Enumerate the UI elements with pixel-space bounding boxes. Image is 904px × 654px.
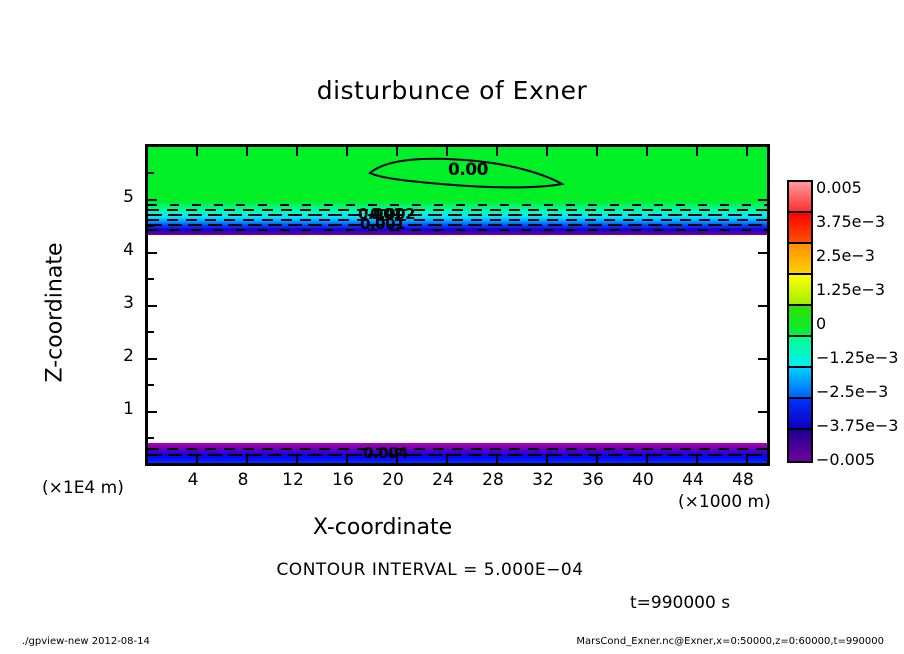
colorbar-label-6: −2.5e−3 [816, 382, 888, 401]
x-tick-label-36: 36 [571, 470, 615, 490]
x-tick-top-32 [546, 147, 548, 156]
colorbar-label-4: 0 [816, 314, 826, 333]
x-tick-label-8: 8 [221, 470, 265, 490]
x-tick-top-8 [246, 147, 248, 156]
y-tick-right-1 [758, 411, 767, 413]
y-tick-left-1 [148, 411, 157, 413]
x-tick-top-16 [346, 147, 348, 156]
x-tick-bottom-28 [496, 454, 498, 463]
colorbar-label-0: 0.005 [816, 178, 862, 197]
x-tick-bottom-48 [746, 454, 748, 463]
contour-dash-row [148, 219, 767, 221]
contour-dash-row [148, 209, 767, 211]
colorbar-label-2: 2.5e−3 [816, 246, 875, 265]
colorbar-label-5: −1.25e−3 [816, 348, 898, 367]
y-tick-right-3 [758, 305, 767, 307]
x-tick-top-40 [646, 147, 648, 156]
x-tick-label-16: 16 [321, 470, 365, 490]
y-tick-label-4: 4 [104, 240, 134, 260]
x-tick-top-4 [196, 147, 198, 156]
footer-source-info: MarsCond_Exner.nc@Exner,x=0:50000,z=0:60… [576, 636, 884, 647]
x-tick-top-48 [746, 147, 748, 156]
y-tick-left-minor [148, 172, 154, 174]
y-tick-left-2 [148, 358, 157, 360]
x-tick-label-12: 12 [271, 470, 315, 490]
y-tick-right-5 [758, 199, 767, 201]
colorbar-band-0 [789, 182, 811, 213]
y-tick-right-4 [758, 252, 767, 254]
region-middle-blank [148, 235, 767, 447]
x-tick-bottom-24 [446, 454, 448, 463]
x-tick-bottom-8 [246, 454, 248, 463]
colorbar-band-3 [789, 275, 811, 306]
x-tick-label-20: 20 [371, 470, 415, 490]
footer-command-info: ./gpview-new 2012-08-14 [22, 636, 150, 647]
y-axis-unit-label: (×1E4 m) [42, 478, 124, 498]
colorbar-band-8 [789, 430, 811, 461]
x-axis-unit-label: (×1000 m) [678, 492, 771, 512]
y-tick-label-3: 3 [104, 293, 134, 313]
contour-dash-row [148, 448, 767, 450]
colorbar-band-5 [789, 337, 811, 368]
x-tick-bottom-36 [596, 454, 598, 463]
x-tick-top-28 [496, 147, 498, 156]
contour-label-0-001-lower: 0.001 [360, 215, 405, 233]
y-tick-left-minor [148, 437, 154, 439]
page-title: disturbunce of Exner [0, 76, 904, 105]
contour-dash-row [148, 454, 767, 456]
x-tick-top-12 [296, 147, 298, 156]
x-tick-top-36 [596, 147, 598, 156]
y-tick-left-minor [148, 278, 154, 280]
y-tick-left-minor [148, 384, 154, 386]
x-tick-top-20 [396, 147, 398, 156]
time-annotation: t=990000 s [630, 593, 730, 613]
contour-interval-annotation: CONTOUR INTERVAL = 5.000E−04 [0, 560, 860, 580]
colorbar-label-3: 1.25e−3 [816, 280, 885, 299]
y-tick-label-1: 1 [104, 399, 134, 419]
colorbar-label-7: −3.75e−3 [816, 416, 898, 435]
x-tick-label-28: 28 [471, 470, 515, 490]
colorbar-band-7 [789, 399, 811, 430]
x-tick-bottom-12 [296, 454, 298, 463]
colorbar-band-2 [789, 244, 811, 275]
x-tick-bottom-44 [696, 454, 698, 463]
x-tick-label-48: 48 [721, 470, 765, 490]
region-upper-gradient-band [148, 202, 767, 235]
x-tick-bottom-20 [396, 454, 398, 463]
y-axis-title: Z-coordinate [43, 198, 68, 428]
colorbar-band-1 [789, 213, 811, 244]
y-tick-left-3 [148, 305, 157, 307]
y-tick-left-minor [148, 225, 154, 227]
y-tick-label-5: 5 [104, 187, 134, 207]
y-tick-left-5 [148, 199, 157, 201]
contour-label-0-00: 0.00 [448, 160, 488, 180]
x-tick-label-44: 44 [671, 470, 715, 490]
y-tick-left-4 [148, 252, 157, 254]
x-tick-bottom-40 [646, 454, 648, 463]
x-tick-label-4: 4 [171, 470, 215, 490]
x-tick-bottom-16 [346, 454, 348, 463]
x-tick-bottom-4 [196, 454, 198, 463]
contour-dash-row [148, 229, 767, 231]
y-tick-label-2: 2 [104, 346, 134, 366]
x-tick-label-40: 40 [621, 470, 665, 490]
contour-dash-row [148, 204, 767, 206]
contour-label-0-004: 0.004 [363, 444, 408, 462]
contour-dash-row [148, 224, 767, 226]
x-tick-bottom-32 [546, 454, 548, 463]
contour-dash-row [148, 214, 767, 216]
y-tick-left-minor [148, 331, 154, 333]
x-tick-label-32: 32 [521, 470, 565, 490]
x-tick-top-44 [696, 147, 698, 156]
colorbar-band-4 [789, 306, 811, 337]
colorbar-label-8: −0.005 [816, 450, 875, 469]
region-bottom-band [148, 443, 767, 463]
colorbar[interactable] [787, 180, 813, 463]
plot-area[interactable]: 0.00 0.001 0.002 0.001 0.004 [145, 144, 770, 466]
x-axis-title: X-coordinate [0, 515, 765, 540]
colorbar-label-1: 3.75e−3 [816, 212, 885, 231]
y-tick-right-2 [758, 358, 767, 360]
x-tick-label-24: 24 [421, 470, 465, 490]
colorbar-band-6 [789, 368, 811, 399]
x-tick-top-24 [446, 147, 448, 156]
